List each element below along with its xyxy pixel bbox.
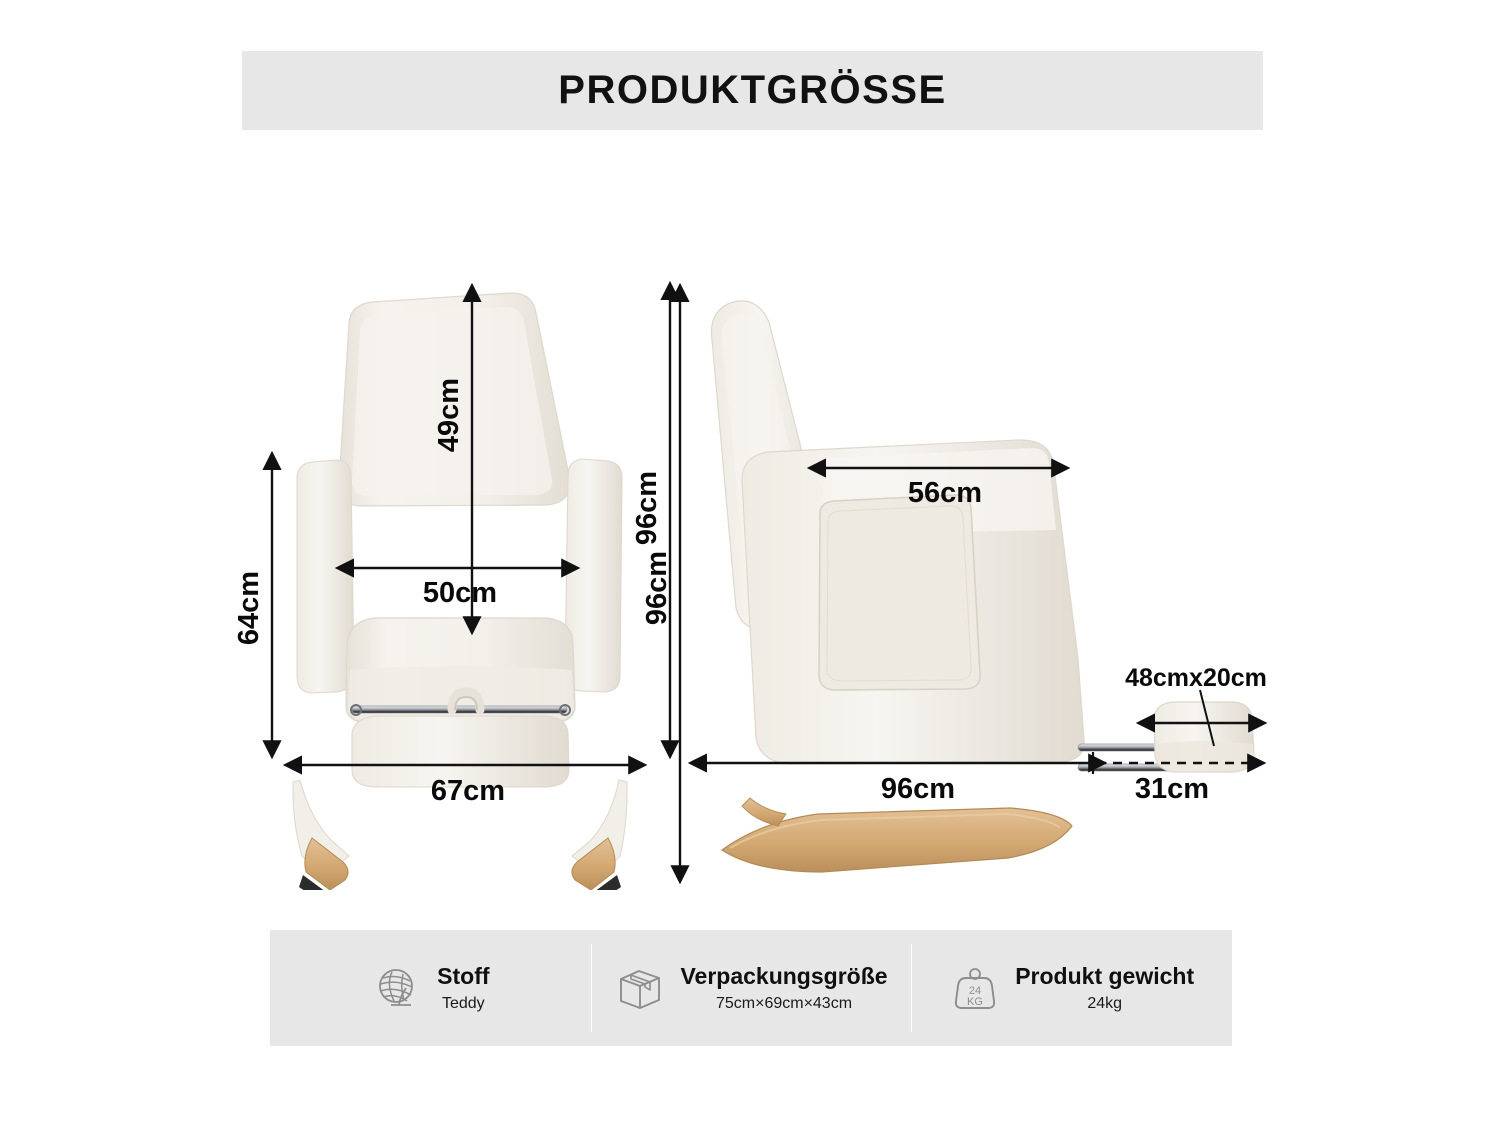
dim-front-seat-height: 64cm [233, 470, 272, 745]
info-texts-fabric: Stoff Teddy [437, 962, 489, 1014]
weight-icon-unit: KG [967, 996, 983, 1008]
info-title-packaging: Verpackungsgröße [680, 962, 887, 991]
dim-label-56cm: 56cm [908, 477, 982, 509]
info-value-packaging: 75cm×69cm×43cm [716, 994, 852, 1014]
dim-label-31cm: 31cm [1135, 773, 1209, 805]
dim-label-64cm: 64cm [233, 571, 265, 645]
dim-label-67cm: 67cm [431, 775, 505, 807]
info-texts-packaging: Verpackungsgröße 75cm×69cm×43cm [680, 962, 887, 1014]
dim-label-48cmx20cm: 48cmx20cm [1125, 664, 1267, 692]
dim-side-total-height: 96cm [641, 302, 680, 870]
dim-label-96cm-depth: 96cm [881, 773, 955, 805]
dim-label-49cm: 49cm [433, 378, 465, 452]
product-dimension-diagram: 49cm 50cm 64cm 67cm 96cm [0, 150, 1500, 890]
dim-label-96cm-front: 96cm [631, 471, 663, 545]
info-cell-packaging: Verpackungsgröße 75cm×69cm×43cm [591, 930, 912, 1046]
title-banner: PRODUKTGRÖSSE [242, 51, 1263, 130]
yarn-ball-icon [371, 962, 423, 1014]
dim-label-50cm: 50cm [423, 577, 497, 609]
product-info-bar: Stoff Teddy Verpackungsgröße 75cm×69cm×4… [270, 930, 1232, 1046]
dim-front-total-height: 96cm [631, 300, 670, 745]
dim-label-96cm-side: 96cm [641, 551, 673, 625]
info-title-weight: Produkt gewicht [1015, 962, 1194, 991]
info-cell-weight: 24 KG Produkt gewicht 24kg [911, 930, 1232, 1046]
info-value-fabric: Teddy [442, 994, 485, 1014]
box-icon [614, 962, 666, 1014]
info-value-weight: 24kg [1087, 994, 1122, 1014]
info-title-fabric: Stoff [437, 962, 489, 991]
info-texts-weight: Produkt gewicht 24kg [1015, 962, 1194, 1014]
info-cell-fabric: Stoff Teddy [270, 930, 591, 1046]
weight-icon: 24 KG [949, 962, 1001, 1014]
page-title: PRODUKTGRÖSSE [558, 68, 946, 113]
dim-front-seat-width: 50cm [354, 568, 566, 609]
